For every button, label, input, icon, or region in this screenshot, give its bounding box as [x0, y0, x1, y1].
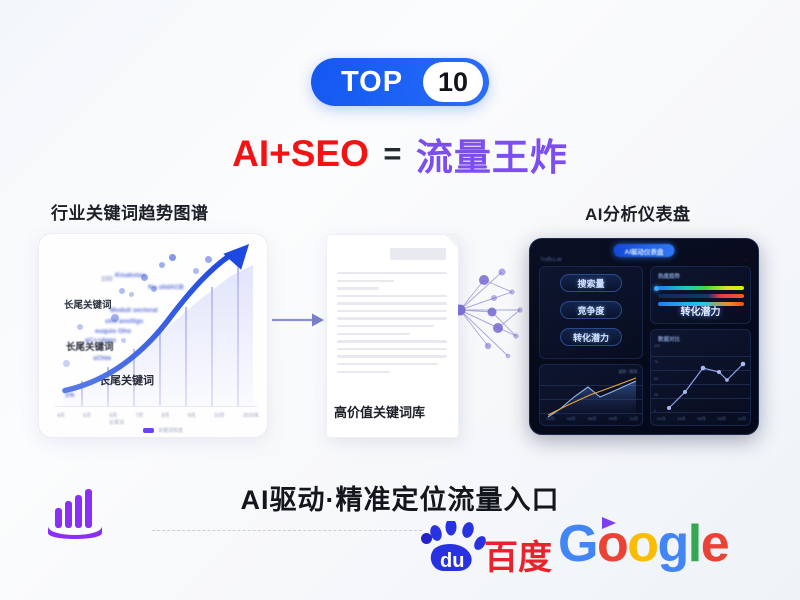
tick: 03月	[567, 416, 575, 422]
dashboard-line-chart-panel: 数据对比 100 75 50 25 0 01月 03月 06月 09月 12月	[650, 329, 751, 426]
line-chart-svg	[665, 346, 747, 416]
gradient-panel-title: 热度趋势	[658, 272, 680, 280]
metric-button-search-volume[interactable]: 搜索量	[560, 274, 622, 292]
document-line	[337, 355, 447, 357]
tick: 06月	[697, 416, 705, 422]
document-label: 高价值关键词库	[334, 402, 425, 421]
chart-legend-swatch	[143, 428, 154, 433]
metric-button-conversion-potential[interactable]: 转化潜力	[560, 328, 622, 346]
top-badge-number: 10	[423, 62, 483, 102]
play-arrow-icon	[598, 515, 620, 531]
document-line	[337, 317, 447, 319]
google-letter: l	[688, 515, 701, 573]
tick: 03月	[677, 416, 685, 422]
document-header-block	[390, 248, 446, 260]
tick: 12月	[738, 416, 746, 422]
dashboard-metric-buttons-panel: 搜索量 竞争度 转化潜力	[539, 266, 643, 359]
chart-x-tick-labels: 4月 5月 6月 7月 8月 9月 10月 2025年	[57, 412, 259, 419]
keyword-library-document: 高价值关键词库	[326, 234, 459, 438]
chart-tick: 9月	[188, 412, 196, 419]
chart-tick: 7月	[135, 412, 143, 419]
chart-tick: 2025年	[243, 412, 259, 419]
headline-equals: =	[383, 136, 401, 171]
chart-tick: 8月	[162, 412, 170, 419]
footer-tagline: AI驱动·精准定位流量入口	[0, 478, 800, 517]
google-logo: Google	[558, 518, 728, 570]
tick: 01月	[546, 416, 554, 422]
document-line	[337, 348, 447, 350]
section-label-right: AI分析仪表盘	[585, 200, 691, 225]
chart-legend-label: 关键词热度	[158, 427, 183, 434]
chart-tick: 10月	[214, 412, 225, 419]
headline-purple: 流量王炸	[416, 137, 568, 178]
page-title: AI+SEO = 流量王炸	[0, 127, 800, 181]
gradient-bar	[658, 286, 744, 290]
google-letter: e	[701, 515, 728, 573]
metric-button-competition[interactable]: 竞争度	[560, 301, 622, 319]
document-line	[337, 272, 447, 274]
document-line	[337, 363, 438, 365]
top-badge: TOP 10	[311, 58, 489, 106]
gradient-bar-marker	[654, 286, 659, 291]
baidu-chinese: 百度	[484, 539, 552, 577]
chart-x-axis	[55, 406, 257, 407]
tick: 09月	[717, 416, 725, 422]
document-line	[337, 280, 394, 282]
google-letter: g	[657, 515, 687, 573]
document-line	[337, 287, 379, 289]
node-link-graph	[458, 258, 534, 364]
document-text-lines	[337, 272, 447, 378]
ytick: 75	[654, 360, 660, 364]
keyword-trend-chart-card: Kisabstas No slidACB Moduli sectoral oho…	[38, 233, 268, 438]
flow-arrow-right	[272, 312, 324, 328]
gradient-panel-overlay-label: 转化潜力	[651, 303, 750, 318]
document-line	[337, 310, 447, 312]
baidu-logo: du 百度	[420, 521, 552, 577]
ai-analytics-dashboard: AI驱动仪表盘 TrafficLab ··· 搜索量 竞争度 转化潜力 趋势 /…	[529, 238, 759, 435]
gradient-bar	[658, 294, 744, 298]
chart-tick: 5月	[83, 412, 91, 419]
dashboard-area-chart-panel: 趋势 / 预测 01月 03月 06月 09月 12月	[539, 364, 643, 426]
chart-trend-arrow	[55, 242, 257, 407]
dashboard-title-pill: AI驱动仪表盘	[614, 244, 675, 257]
section-label-left: 行业关键词趋势图谱	[51, 199, 209, 224]
dashboard-brand: TrafficLab	[540, 257, 562, 263]
footer-divider	[152, 530, 422, 531]
dashboard-menu-icon[interactable]: ···	[741, 257, 749, 263]
document-line	[337, 325, 434, 327]
chart-x-axis-label: 长尾词	[109, 419, 124, 426]
area-chart-svg	[546, 375, 638, 419]
bar-chart-icon	[44, 486, 106, 542]
ytick: 50	[654, 377, 660, 381]
tick: 09月	[609, 416, 617, 422]
chart-plot-area: Kisabstas No slidACB Moduli sectoral oho…	[55, 242, 257, 407]
google-letter: o	[627, 515, 657, 573]
document-line	[337, 333, 410, 335]
tick: 06月	[588, 416, 596, 422]
top-badge-label: TOP	[311, 66, 423, 99]
ytick: 100	[654, 344, 660, 348]
line-chart-y-tick-labels: 100 75 50 25 0	[654, 344, 660, 413]
line-chart-title: 数据对比	[658, 335, 680, 343]
document-line	[337, 340, 447, 342]
document-line	[337, 295, 447, 297]
area-chart-tick-labels: 01月 03月 06月 09月 12月	[546, 416, 638, 422]
line-chart-tick-labels: 01月 03月 06月 09月 12月	[657, 416, 746, 422]
document-line	[337, 371, 390, 373]
headline-red: AI+SEO	[232, 133, 369, 174]
ytick: 25	[654, 393, 660, 397]
dashboard-gradient-panel: 热度趋势 转化潜力	[650, 266, 751, 324]
tick: 01月	[657, 416, 665, 422]
chart-legend: 关键词热度	[143, 427, 183, 434]
chart-tick: 6月	[109, 412, 117, 419]
document-line	[337, 302, 447, 304]
tick: 12月	[630, 416, 638, 422]
google-letter: G	[558, 515, 597, 573]
chart-tick: 4月	[57, 412, 65, 419]
baidu-wordmark: du	[440, 550, 464, 572]
